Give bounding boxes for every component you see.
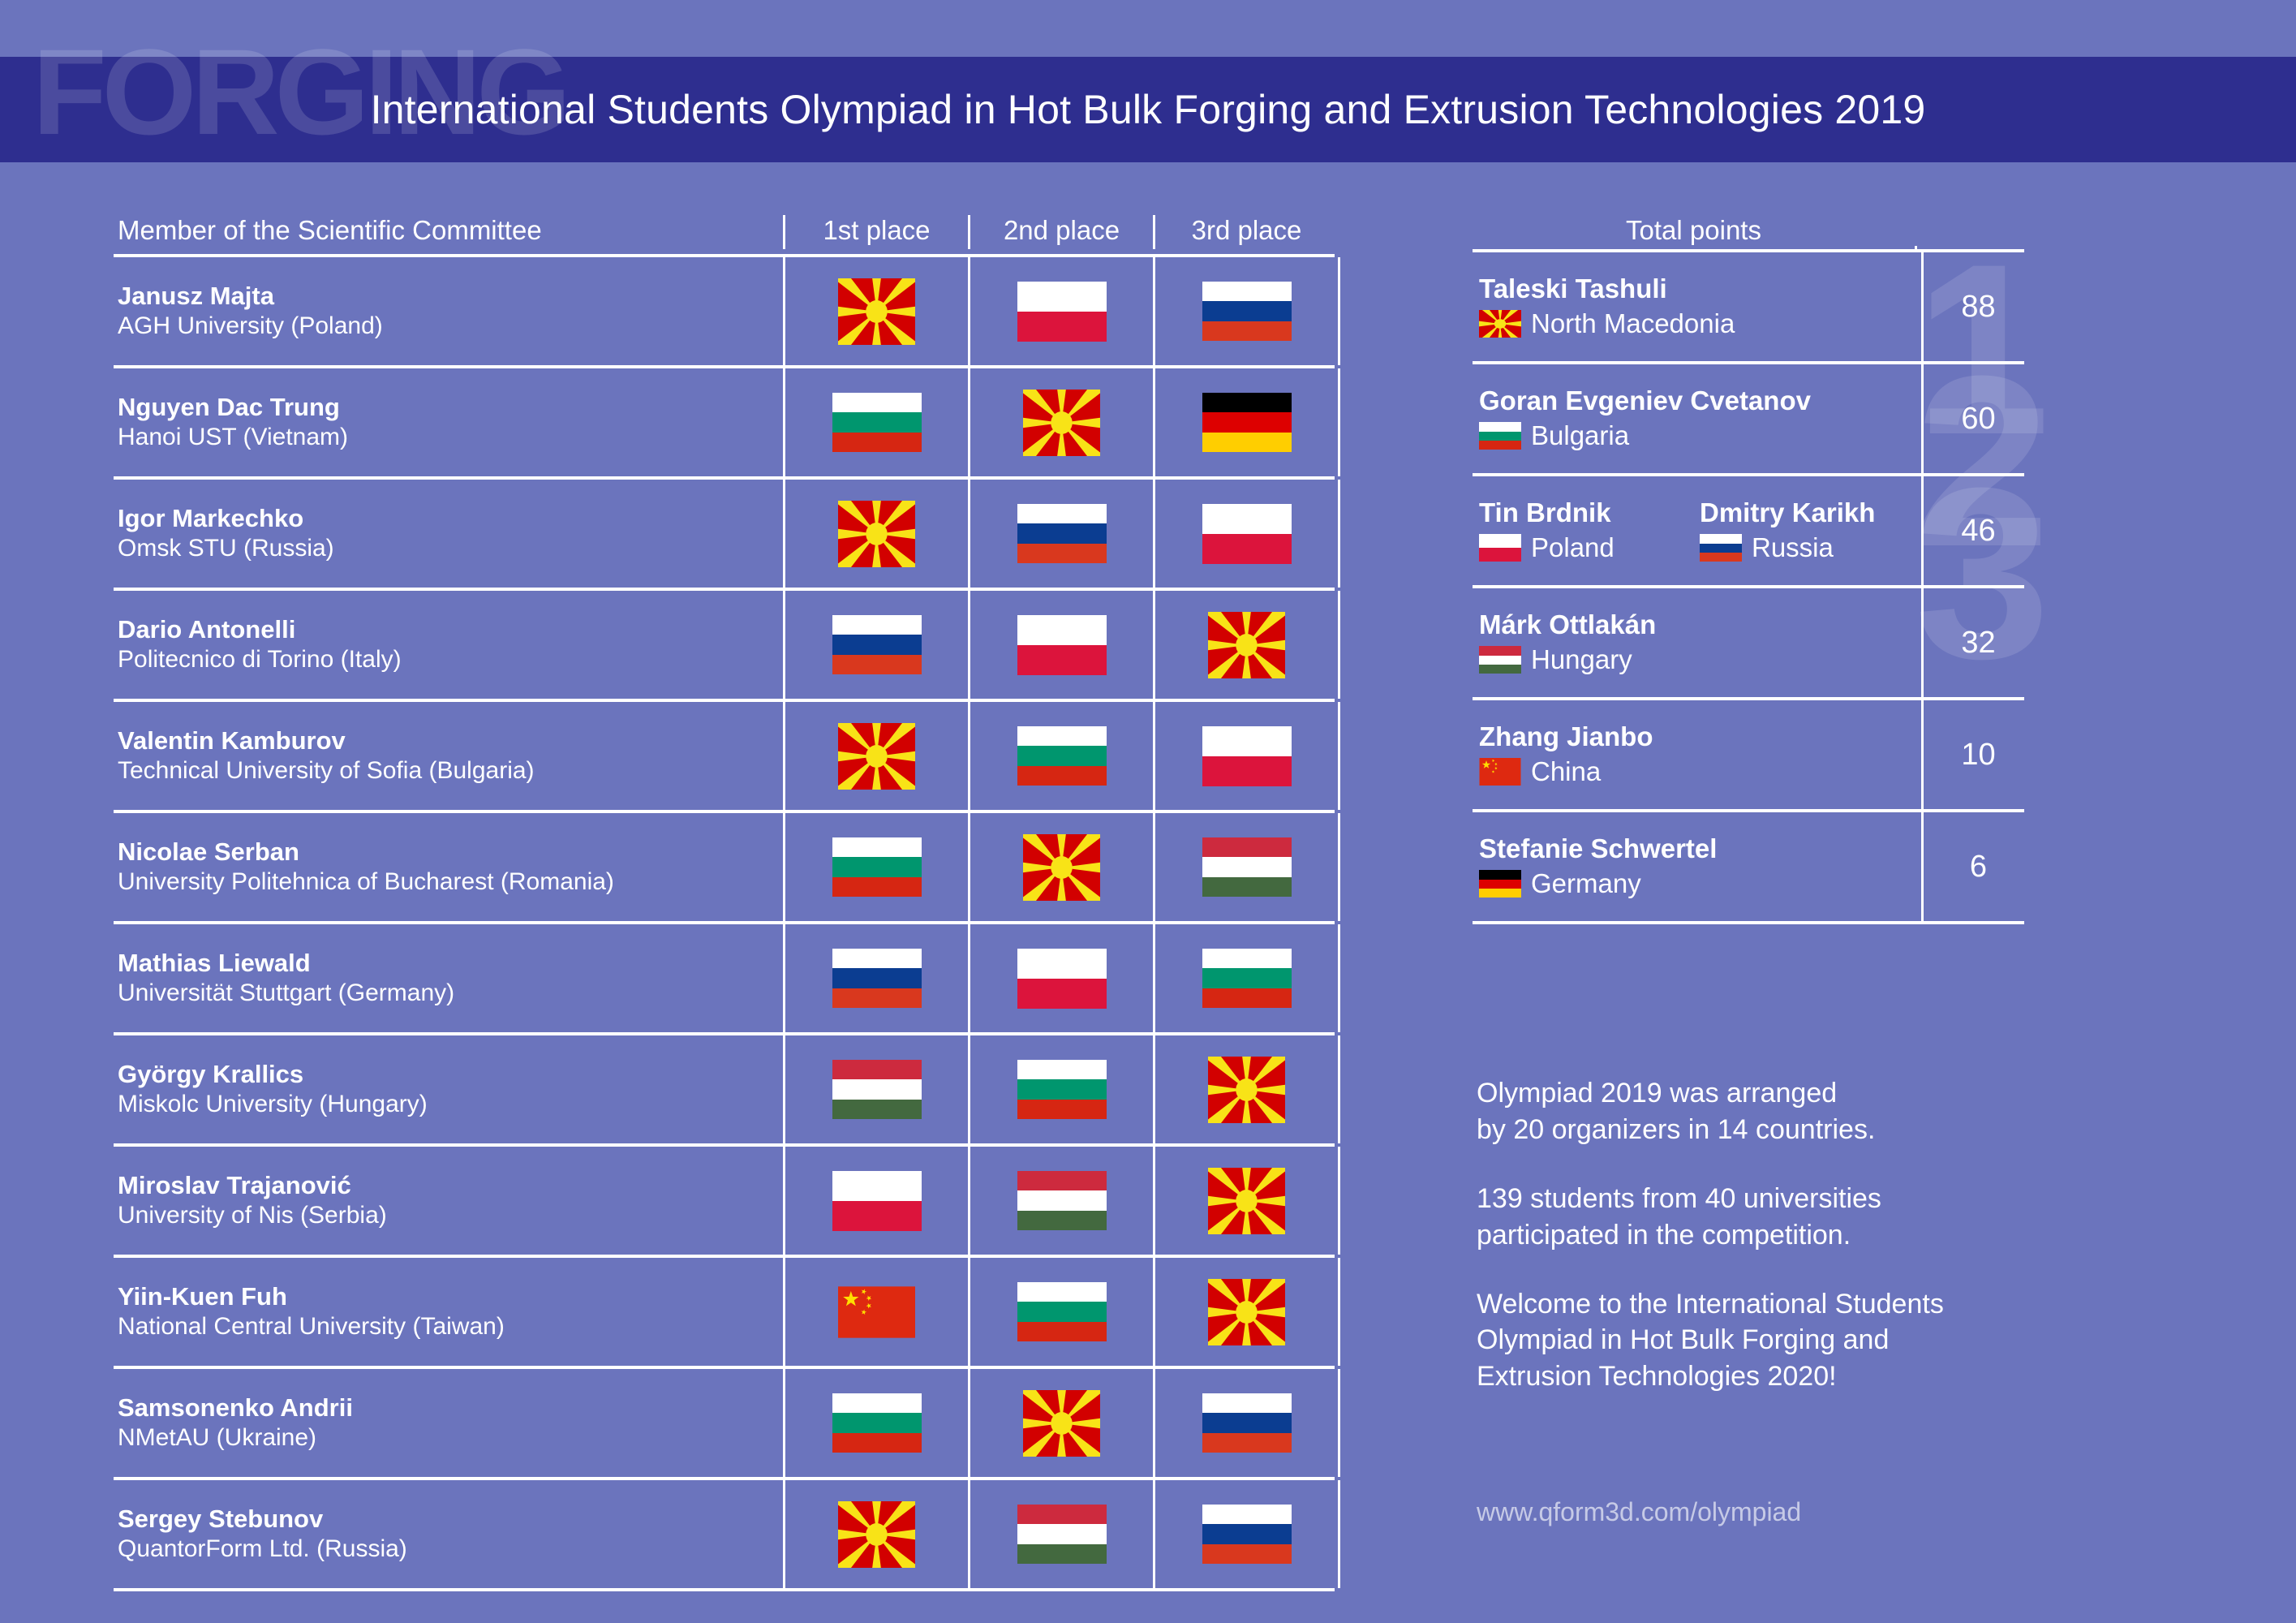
winner-country: Hungary xyxy=(1479,644,1921,676)
member-cell: Miroslav TrajanovićUniversity of Nis (Se… xyxy=(114,1147,783,1255)
winner-country: Poland xyxy=(1479,532,1700,564)
member-cell: Sergey StebunovQuantorForm Ltd. (Russia) xyxy=(114,1480,783,1588)
winner-country: Russia xyxy=(1700,532,1920,564)
table-row: Sergey StebunovQuantorForm Ltd. (Russia) xyxy=(114,1480,1335,1588)
flag-germany-icon xyxy=(1202,393,1292,453)
flag-poland-icon xyxy=(832,1171,922,1231)
column-header-score xyxy=(1915,246,2027,249)
flag-poland-icon xyxy=(1017,282,1107,342)
place-cell-1st xyxy=(783,1369,968,1477)
flag-north-macedonia-icon xyxy=(1208,1057,1285,1123)
flag-north-macedonia-icon xyxy=(1208,1168,1285,1234)
place-cell-2nd xyxy=(968,1369,1153,1477)
flag-hungary-icon xyxy=(832,1060,922,1120)
flag-poland-icon xyxy=(1202,504,1292,564)
winner-country: North Macedonia xyxy=(1479,308,1921,340)
flag-poland-icon xyxy=(1479,534,1521,562)
score-cell: 6 xyxy=(1921,812,2033,921)
flag-china-icon xyxy=(1479,758,1521,786)
scientific-committee-table: Member of the Scientific Committee 1st p… xyxy=(114,199,1335,1591)
flag-poland-icon xyxy=(1017,615,1107,675)
place-cell-3rd xyxy=(1153,1035,1340,1143)
place-cell-3rd xyxy=(1153,368,1340,476)
note-paragraph: 139 students from 40 universities partic… xyxy=(1477,1181,2247,1254)
flag-north-macedonia-icon xyxy=(838,501,915,567)
flag-russia-icon xyxy=(1202,1393,1292,1453)
flag-china-icon xyxy=(838,1279,915,1345)
column-header-2nd-place: 2nd place xyxy=(968,215,1153,249)
table-row: Mathias LiewaldUniversität Stuttgart (Ge… xyxy=(114,924,1335,1032)
member-name: Janusz Majta xyxy=(118,281,783,312)
place-cell-3rd xyxy=(1153,1480,1340,1588)
place-cell-3rd xyxy=(1153,1147,1340,1255)
score-cell: 10 xyxy=(1921,700,2033,809)
winner-cell: Márk OttlakánHungary xyxy=(1473,588,1921,697)
points-table-body: Taleski TashuliNorth Macedonia88Goran Ev… xyxy=(1473,252,2024,924)
place-cell-2nd xyxy=(968,924,1153,1032)
place-cell-1st xyxy=(783,1035,968,1143)
place-cell-1st xyxy=(783,1147,968,1255)
points-header-row: Total points xyxy=(1473,199,2024,249)
note-paragraph: Welcome to the International Students Ol… xyxy=(1477,1286,2247,1396)
member-cell: Igor MarkechkoOmsk STU (Russia) xyxy=(114,480,783,588)
flag-bulgaria-icon xyxy=(832,1393,922,1453)
flag-north-macedonia-icon xyxy=(1023,1390,1100,1457)
member-organization: Universität Stuttgart (Germany) xyxy=(118,979,783,1009)
score-cell: 32 xyxy=(1921,588,2033,697)
place-cell-1st xyxy=(783,368,968,476)
member-name: Igor Markechko xyxy=(118,503,783,534)
flag-russia-icon xyxy=(1017,504,1107,564)
place-cell-2nd xyxy=(968,1480,1153,1588)
points-row: Taleski TashuliNorth Macedonia88 xyxy=(1473,252,2024,361)
flag-hungary-icon xyxy=(1017,1505,1107,1565)
flag-poland-icon xyxy=(1017,949,1107,1009)
flag-bulgaria-icon xyxy=(1202,949,1292,1009)
member-name: Dario Antonelli xyxy=(118,614,783,645)
winner-name: Zhang Jianbo xyxy=(1479,721,1921,753)
notes-block: Olympiad 2019 was arranged by 20 organiz… xyxy=(1477,1075,2247,1427)
flag-north-macedonia-icon xyxy=(838,1501,915,1568)
member-name: Sergey Stebunov xyxy=(118,1504,783,1535)
flag-bulgaria-icon xyxy=(1017,726,1107,786)
country-label: Russia xyxy=(1752,532,1834,564)
member-name: Nicolae Serban xyxy=(118,837,783,867)
member-organization: Omsk STU (Russia) xyxy=(118,534,783,564)
winner-cell: Goran Evgeniev CvetanovBulgaria xyxy=(1473,364,1921,473)
points-row: Tin BrdnikDmitry KarikhPolandRussia46 xyxy=(1473,476,2024,585)
score-cell: 60 xyxy=(1921,364,2033,473)
place-cell-2nd xyxy=(968,257,1153,365)
member-organization: University Politehnica of Bucharest (Rom… xyxy=(118,867,783,898)
member-organization: Miskolc University (Hungary) xyxy=(118,1090,783,1120)
place-cell-1st xyxy=(783,1480,968,1588)
place-cell-3rd xyxy=(1153,591,1340,699)
flag-bulgaria-icon xyxy=(1479,422,1521,450)
table-header-row: Member of the Scientific Committee 1st p… xyxy=(114,199,1335,249)
table-row: Janusz MajtaAGH University (Poland) xyxy=(114,257,1335,365)
member-organization: Politecnico di Torino (Italy) xyxy=(118,645,783,675)
place-cell-1st xyxy=(783,591,968,699)
winner-cell: Zhang JianboChina xyxy=(1473,700,1921,809)
flag-russia-icon xyxy=(1202,282,1292,342)
place-cell-3rd xyxy=(1153,1258,1340,1366)
points-row: Goran Evgeniev CvetanovBulgaria60 xyxy=(1473,364,2024,473)
member-name: Samsonenko Andrii xyxy=(118,1393,783,1423)
table-row: Dario AntonelliPolitecnico di Torino (It… xyxy=(114,591,1335,699)
place-cell-2nd xyxy=(968,1147,1153,1255)
flag-russia-icon xyxy=(1202,1505,1292,1565)
country-label: Hungary xyxy=(1531,644,1632,676)
table-row: Yiin-Kuen FuhNational Central University… xyxy=(114,1258,1335,1366)
member-organization: QuantorForm Ltd. (Russia) xyxy=(118,1535,783,1565)
total-points-table: Total points Taleski TashuliNorth Macedo… xyxy=(1473,199,2024,924)
table-body: Janusz MajtaAGH University (Poland)Nguye… xyxy=(114,257,1335,1591)
winner-cell: Tin BrdnikDmitry KarikhPolandRussia xyxy=(1473,476,1921,585)
member-cell: Dario AntonelliPolitecnico di Torino (It… xyxy=(114,591,783,699)
flag-russia-icon xyxy=(832,615,922,675)
member-name: György Krallics xyxy=(118,1059,783,1090)
column-header-total-points: Total points xyxy=(1473,215,1915,249)
member-organization: NMetAU (Ukraine) xyxy=(118,1423,783,1453)
site-url-link[interactable]: www.qform3d.com/olympiad xyxy=(1477,1497,1801,1527)
table-row: Valentin KamburovTechnical University of… xyxy=(114,702,1335,810)
winner-name: Tin Brdnik xyxy=(1479,497,1700,529)
flag-north-macedonia-icon xyxy=(1023,834,1100,901)
member-name: Nguyen Dac Trung xyxy=(118,392,783,423)
table-row: Nguyen Dac TrungHanoi UST (Vietnam) xyxy=(114,368,1335,476)
table-row: Nicolae SerbanUniversity Politehnica of … xyxy=(114,813,1335,921)
member-name: Yiin-Kuen Fuh xyxy=(118,1281,783,1312)
flag-bulgaria-icon xyxy=(1017,1282,1107,1342)
winner-name: Goran Evgeniev Cvetanov xyxy=(1479,385,1921,417)
flag-poland-icon xyxy=(1202,726,1292,786)
place-cell-1st xyxy=(783,1258,968,1366)
place-cell-1st xyxy=(783,257,968,365)
place-cell-1st xyxy=(783,480,968,588)
flag-russia-icon xyxy=(832,949,922,1009)
member-organization: National Central University (Taiwan) xyxy=(118,1312,783,1342)
member-organization: University of Nis (Serbia) xyxy=(118,1201,783,1231)
place-cell-2nd xyxy=(968,702,1153,810)
flag-north-macedonia-icon xyxy=(838,278,915,345)
points-row: Márk OttlakánHungary32 xyxy=(1473,588,2024,697)
member-cell: Nguyen Dac TrungHanoi UST (Vietnam) xyxy=(114,368,783,476)
place-cell-2nd xyxy=(968,813,1153,921)
points-row: Zhang JianboChina10 xyxy=(1473,700,2024,809)
winner-name: Dmitry Karikh xyxy=(1700,497,1920,529)
flag-bulgaria-icon xyxy=(1017,1060,1107,1120)
member-cell: György KrallicsMiskolc University (Hunga… xyxy=(114,1035,783,1143)
country-label: China xyxy=(1531,756,1601,788)
member-name: Mathias Liewald xyxy=(118,948,783,979)
place-cell-3rd xyxy=(1153,702,1340,810)
member-cell: Mathias LiewaldUniversität Stuttgart (Ge… xyxy=(114,924,783,1032)
member-cell: Janusz MajtaAGH University (Poland) xyxy=(114,257,783,365)
place-cell-2nd xyxy=(968,591,1153,699)
winner-cell: Stefanie SchwertelGermany xyxy=(1473,812,1921,921)
member-name: Miroslav Trajanović xyxy=(118,1170,783,1201)
flag-hungary-icon xyxy=(1479,646,1521,674)
place-cell-2nd xyxy=(968,480,1153,588)
flag-north-macedonia-icon xyxy=(838,723,915,790)
score-cell: 46 xyxy=(1921,476,2033,585)
flag-russia-icon xyxy=(1700,534,1742,562)
place-cell-1st xyxy=(783,813,968,921)
place-cell-3rd xyxy=(1153,257,1340,365)
winner-name: Márk Ottlakán xyxy=(1479,609,1921,641)
place-cell-1st xyxy=(783,702,968,810)
winner-country: Germany xyxy=(1479,868,1921,900)
page-title: International Students Olympiad in Hot B… xyxy=(0,57,2296,162)
row-divider xyxy=(114,1588,1335,1591)
points-row: Stefanie SchwertelGermany6 xyxy=(1473,812,2024,921)
place-cell-1st xyxy=(783,924,968,1032)
place-cell-2nd xyxy=(968,1258,1153,1366)
member-organization: Hanoi UST (Vietnam) xyxy=(118,423,783,453)
points-row-divider xyxy=(1473,921,2024,924)
country-label: Bulgaria xyxy=(1531,420,1629,452)
flag-north-macedonia-icon xyxy=(1208,1279,1285,1345)
place-cell-2nd xyxy=(968,368,1153,476)
flag-germany-icon xyxy=(1479,870,1521,898)
member-cell: Valentin KamburovTechnical University of… xyxy=(114,702,783,810)
note-paragraph: Olympiad 2019 was arranged by 20 organiz… xyxy=(1477,1075,2247,1148)
place-cell-3rd xyxy=(1153,813,1340,921)
member-organization: AGH University (Poland) xyxy=(118,312,783,342)
country-label: North Macedonia xyxy=(1531,308,1735,340)
flag-north-macedonia-icon xyxy=(1023,390,1100,456)
table-row: Miroslav TrajanovićUniversity of Nis (Se… xyxy=(114,1147,1335,1255)
winner-country: China xyxy=(1479,756,1921,788)
member-cell: Nicolae SerbanUniversity Politehnica of … xyxy=(114,813,783,921)
flag-hungary-icon xyxy=(1202,837,1292,898)
place-cell-2nd xyxy=(968,1035,1153,1143)
member-cell: Samsonenko AndriiNMetAU (Ukraine) xyxy=(114,1369,783,1477)
winner-name: Stefanie Schwertel xyxy=(1479,833,1921,865)
table-row: Samsonenko AndriiNMetAU (Ukraine) xyxy=(114,1369,1335,1477)
flag-hungary-icon xyxy=(1017,1171,1107,1231)
column-header-1st-place: 1st place xyxy=(783,215,968,249)
flag-bulgaria-icon xyxy=(832,837,922,898)
flag-north-macedonia-icon xyxy=(1208,612,1285,678)
member-name: Valentin Kamburov xyxy=(118,725,783,756)
place-cell-3rd xyxy=(1153,480,1340,588)
flag-bulgaria-icon xyxy=(832,393,922,453)
winner-country: Bulgaria xyxy=(1479,420,1921,452)
place-cell-3rd xyxy=(1153,924,1340,1032)
flag-north-macedonia-icon xyxy=(1479,310,1521,338)
member-cell: Yiin-Kuen FuhNational Central University… xyxy=(114,1258,783,1366)
winner-cell: Taleski TashuliNorth Macedonia xyxy=(1473,252,1921,361)
country-label: Poland xyxy=(1531,532,1615,564)
table-row: György KrallicsMiskolc University (Hunga… xyxy=(114,1035,1335,1143)
member-organization: Technical University of Sofia (Bulgaria) xyxy=(118,756,783,786)
column-header-member: Member of the Scientific Committee xyxy=(114,215,783,249)
winner-name: Taleski Tashuli xyxy=(1479,273,1921,305)
place-cell-3rd xyxy=(1153,1369,1340,1477)
country-label: Germany xyxy=(1531,868,1641,900)
table-row: Igor MarkechkoOmsk STU (Russia) xyxy=(114,480,1335,588)
column-header-3rd-place: 3rd place xyxy=(1153,215,1338,249)
score-cell: 88 xyxy=(1921,252,2033,361)
